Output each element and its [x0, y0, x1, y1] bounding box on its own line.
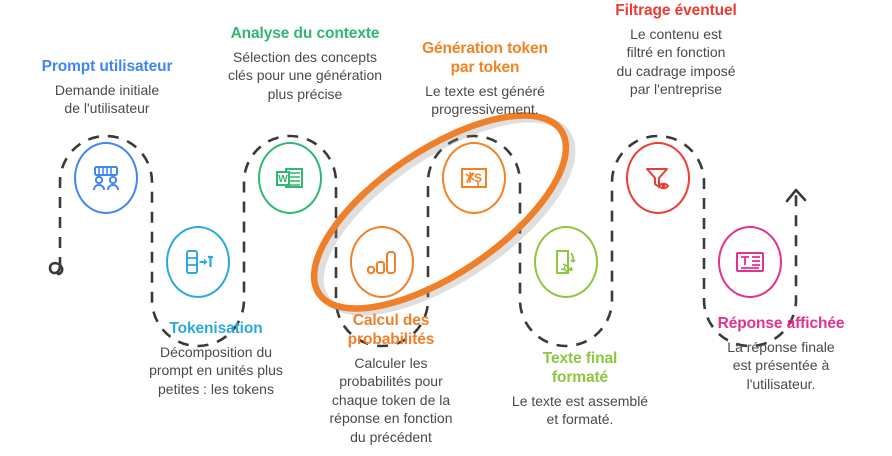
stage-desc: Le contenu estfiltré en fonctiondu cadra…	[588, 25, 764, 99]
svg-text:W: W	[278, 174, 288, 185]
document-format-icon	[549, 245, 583, 279]
label-filtrage-eventuel: Filtrage éventuel Le contenu estfiltré e…	[588, 2, 764, 99]
stage-title: Analyse du contexte	[203, 25, 407, 44]
emphasis-ellipse	[284, 79, 595, 345]
stage-title: Tokenisation	[123, 320, 309, 339]
label-texte-final-formate: Texte finalformaté Le texte est assemblé…	[490, 350, 670, 429]
node-bubble	[534, 226, 598, 298]
stage-desc: Sélection des conceptsclés pour une géné…	[203, 48, 407, 103]
label-generation-token-par-token: Génération tokenpar token Le texte est g…	[399, 40, 571, 119]
stage-title: Calcul desprobabilités	[306, 312, 476, 350]
node-bubble	[166, 226, 230, 298]
document-w-icon: W	[273, 161, 307, 195]
label-calcul-des-probabilites: Calcul desprobabilités Calculer lesproba…	[306, 312, 476, 446]
label-tokenisation: Tokenisation Décomposition duprompt en u…	[123, 320, 309, 398]
article-card-icon	[733, 245, 767, 279]
node-bubble	[718, 226, 782, 298]
stage-desc: Décomposition duprompt en unités pluspet…	[123, 343, 309, 398]
stage-title: Prompt utilisateur	[14, 58, 200, 77]
label-analyse-du-contexte: Analyse du contexte Sélection des concep…	[203, 25, 407, 103]
stage-desc: Demande initialede l'utilisateur	[14, 81, 200, 118]
label-reponse-affichee: Réponse affichée La réponse finaleest pr…	[690, 315, 872, 393]
node-bubble	[626, 142, 690, 214]
bar-chart-icon	[364, 245, 400, 279]
label-prompt-utilisateur: Prompt utilisateur Demande initialede l'…	[14, 58, 200, 118]
diagram-canvas: W S	[0, 0, 892, 456]
funnel-eye-icon	[641, 161, 675, 195]
node-bubble	[350, 226, 414, 298]
node-bubble: W	[258, 142, 322, 214]
token-convert-icon	[181, 245, 215, 279]
stage-desc: Le texte est généréprogressivement.	[399, 82, 571, 119]
users-group-icon	[89, 161, 123, 195]
stage-desc: La réponse finaleest présentée àl'utilis…	[690, 338, 872, 393]
presentation-board-icon: S	[457, 161, 491, 195]
stage-title: Filtrage éventuel	[588, 2, 764, 21]
stage-title: Génération tokenpar token	[399, 40, 571, 78]
stage-title: Texte finalformaté	[490, 350, 670, 388]
stage-title: Réponse affichée	[690, 315, 872, 334]
stage-desc: Calculer lesprobabilités pourchaque toke…	[306, 354, 476, 446]
node-bubble	[74, 142, 138, 214]
node-bubble: S	[442, 142, 506, 214]
stage-desc: Le texte est assembléet formaté.	[490, 392, 670, 429]
